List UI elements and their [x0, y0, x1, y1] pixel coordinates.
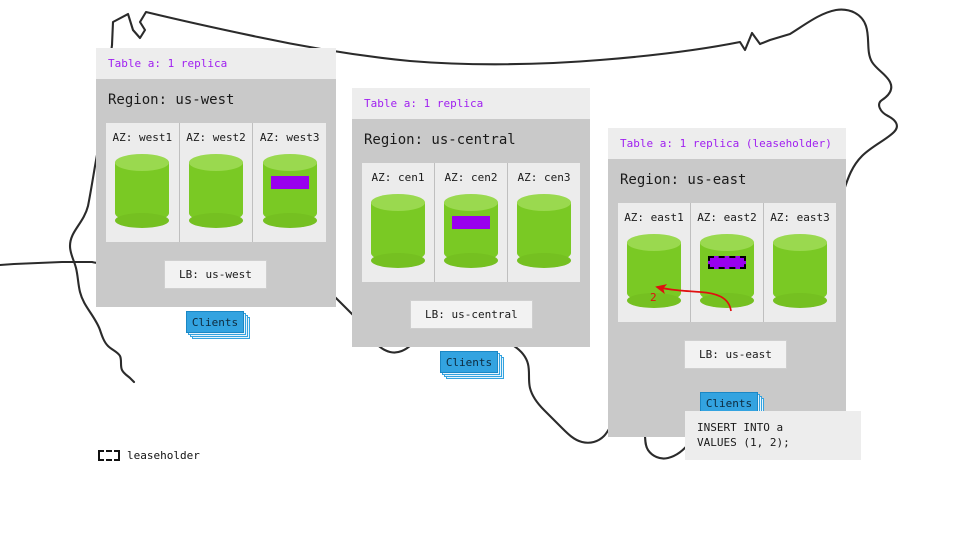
- cylinder-bottom: [263, 213, 317, 228]
- az-east1[interactable]: AZ: east1: [618, 203, 691, 322]
- az-cen1[interactable]: AZ: cen1: [362, 163, 435, 282]
- clients-card-front: Clients: [186, 311, 244, 333]
- clients-button-us-west[interactable]: Clients: [186, 311, 244, 333]
- legend: leaseholder: [98, 450, 200, 461]
- az-label-cen3: AZ: cen3: [508, 172, 580, 184]
- node-cylinder-cen1[interactable]: [371, 194, 425, 270]
- node-cylinder-east3[interactable]: [773, 234, 827, 310]
- diagram-canvas: Table a: 1 replica Region: us-west AZ: w…: [0, 0, 960, 540]
- sql-statement-box: INSERT INTO a VALUES (1, 2);: [685, 411, 861, 460]
- az-west2[interactable]: AZ: west2: [180, 123, 254, 242]
- replica-marker-cen2: [452, 216, 490, 229]
- clients-label: Clients: [706, 398, 752, 409]
- region-title-us-west: Region: us-west: [96, 79, 336, 123]
- node-cylinder-cen3[interactable]: [517, 194, 571, 270]
- replica-marker-leaseholder-east2: [708, 256, 746, 269]
- node-cylinder-west2[interactable]: [189, 154, 243, 230]
- load-balancer-us-east[interactable]: LB: us-east: [684, 340, 787, 369]
- region-title-us-central: Region: us-central: [352, 119, 590, 163]
- cylinder-top: [444, 194, 498, 211]
- az-strip-us-east: AZ: east1 AZ: east2: [618, 203, 836, 322]
- cylinder-bottom: [189, 213, 243, 228]
- clients-button-us-central[interactable]: Clients: [440, 351, 498, 373]
- az-strip-us-west: AZ: west1 AZ: west2: [106, 123, 326, 242]
- load-balancer-us-central[interactable]: LB: us-central: [410, 300, 533, 329]
- az-cen2[interactable]: AZ: cen2: [435, 163, 508, 282]
- node-cylinder-west1[interactable]: [115, 154, 169, 230]
- az-label-east3: AZ: east3: [764, 212, 836, 224]
- cylinder-top: [189, 154, 243, 171]
- region-header-us-west: Table a: 1 replica: [96, 48, 336, 79]
- node-cylinder-west3[interactable]: [263, 154, 317, 230]
- cylinder-bottom: [773, 293, 827, 308]
- dashed-rect-icon: [98, 450, 120, 461]
- region-title-us-east: Region: us-east: [608, 159, 846, 203]
- region-header-us-central: Table a: 1 replica: [352, 88, 590, 119]
- load-balancer-us-west[interactable]: LB: us-west: [164, 260, 267, 289]
- region-body-us-west: Region: us-west AZ: west1 AZ: west2: [96, 79, 336, 307]
- cylinder-bottom: [115, 213, 169, 228]
- az-strip-us-central: AZ: cen1 AZ: cen2: [362, 163, 580, 282]
- region-header-us-east: Table a: 1 replica (leaseholder): [608, 128, 846, 159]
- az-label-west1: AZ: west1: [106, 132, 179, 144]
- cylinder-top: [700, 234, 754, 251]
- az-label-west2: AZ: west2: [180, 132, 253, 144]
- clients-label: Clients: [446, 357, 492, 368]
- cylinder-top: [627, 234, 681, 251]
- az-label-west3: AZ: west3: [253, 132, 326, 144]
- cylinder-top: [263, 154, 317, 171]
- cylinder-top: [517, 194, 571, 211]
- legend-label: leaseholder: [127, 450, 200, 461]
- region-panel-us-west: Table a: 1 replica Region: us-west AZ: w…: [96, 48, 336, 307]
- region-body-us-central: Region: us-central AZ: cen1 AZ: cen2: [352, 119, 590, 347]
- az-west3[interactable]: AZ: west3: [253, 123, 326, 242]
- replica-marker-west3: [271, 176, 309, 189]
- az-label-cen2: AZ: cen2: [435, 172, 507, 184]
- cylinder-top: [115, 154, 169, 171]
- az-east3[interactable]: AZ: east3: [764, 203, 836, 322]
- region-body-us-east: Region: us-east AZ: east1 AZ: east2: [608, 159, 846, 437]
- cylinder-bottom: [371, 253, 425, 268]
- region-panel-us-east: Table a: 1 replica (leaseholder) Region:…: [608, 128, 846, 437]
- az-cen3[interactable]: AZ: cen3: [508, 163, 580, 282]
- node-cylinder-cen2[interactable]: [444, 194, 498, 270]
- az-east2[interactable]: AZ: east2: [691, 203, 764, 322]
- clients-label: Clients: [192, 317, 238, 328]
- cylinder-bottom: [700, 293, 754, 308]
- node-cylinder-east2[interactable]: [700, 234, 754, 310]
- arrow-step-label: 2: [650, 292, 657, 303]
- region-panel-us-central: Table a: 1 replica Region: us-central AZ…: [352, 88, 590, 347]
- az-label-cen1: AZ: cen1: [362, 172, 434, 184]
- az-label-east1: AZ: east1: [618, 212, 690, 224]
- cylinder-top: [773, 234, 827, 251]
- az-west1[interactable]: AZ: west1: [106, 123, 180, 242]
- cylinder-bottom: [444, 253, 498, 268]
- cylinder-top: [371, 194, 425, 211]
- cylinder-bottom: [517, 253, 571, 268]
- clients-card-front: Clients: [440, 351, 498, 373]
- az-label-east2: AZ: east2: [691, 212, 763, 224]
